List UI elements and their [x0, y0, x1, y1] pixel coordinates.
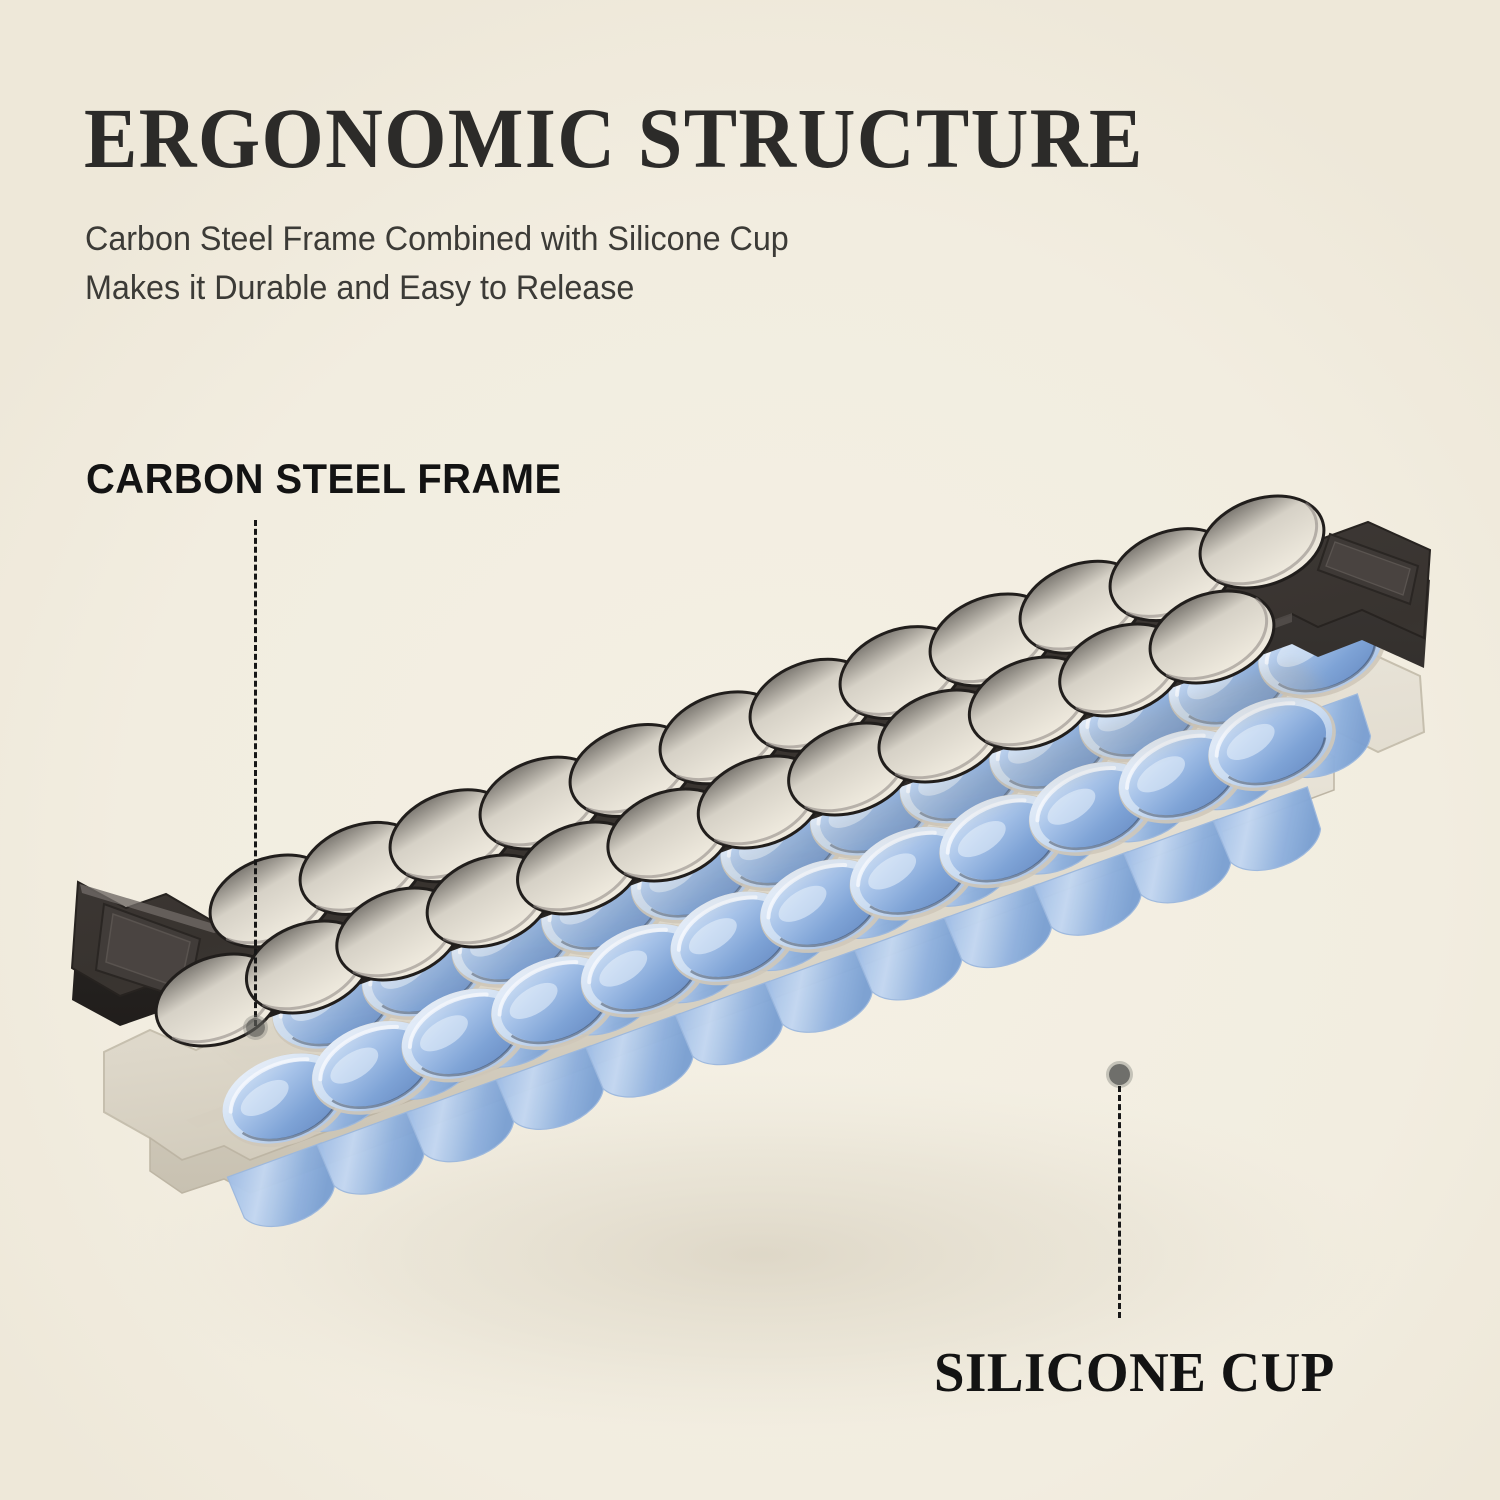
- page-title: ERGONOMIC STRUCTURE: [84, 95, 1144, 181]
- leader-line-silicone-cup: [1118, 1086, 1121, 1318]
- leader-dot-carbon-steel-frame: [246, 1018, 265, 1037]
- callout-label-carbon-steel-frame: CARBON STEEL FRAME: [86, 455, 562, 503]
- leader-line-carbon-steel-frame: [254, 520, 257, 1026]
- callout-label-silicone-cup: SILICONE CUP: [934, 1341, 1335, 1405]
- page-subtitle: Carbon Steel Frame Combined with Silicon…: [85, 215, 789, 314]
- leader-dot-silicone-cup: [1109, 1064, 1130, 1085]
- infographic-stage: ERGONOMIC STRUCTURE Carbon Steel Frame C…: [0, 0, 1500, 1500]
